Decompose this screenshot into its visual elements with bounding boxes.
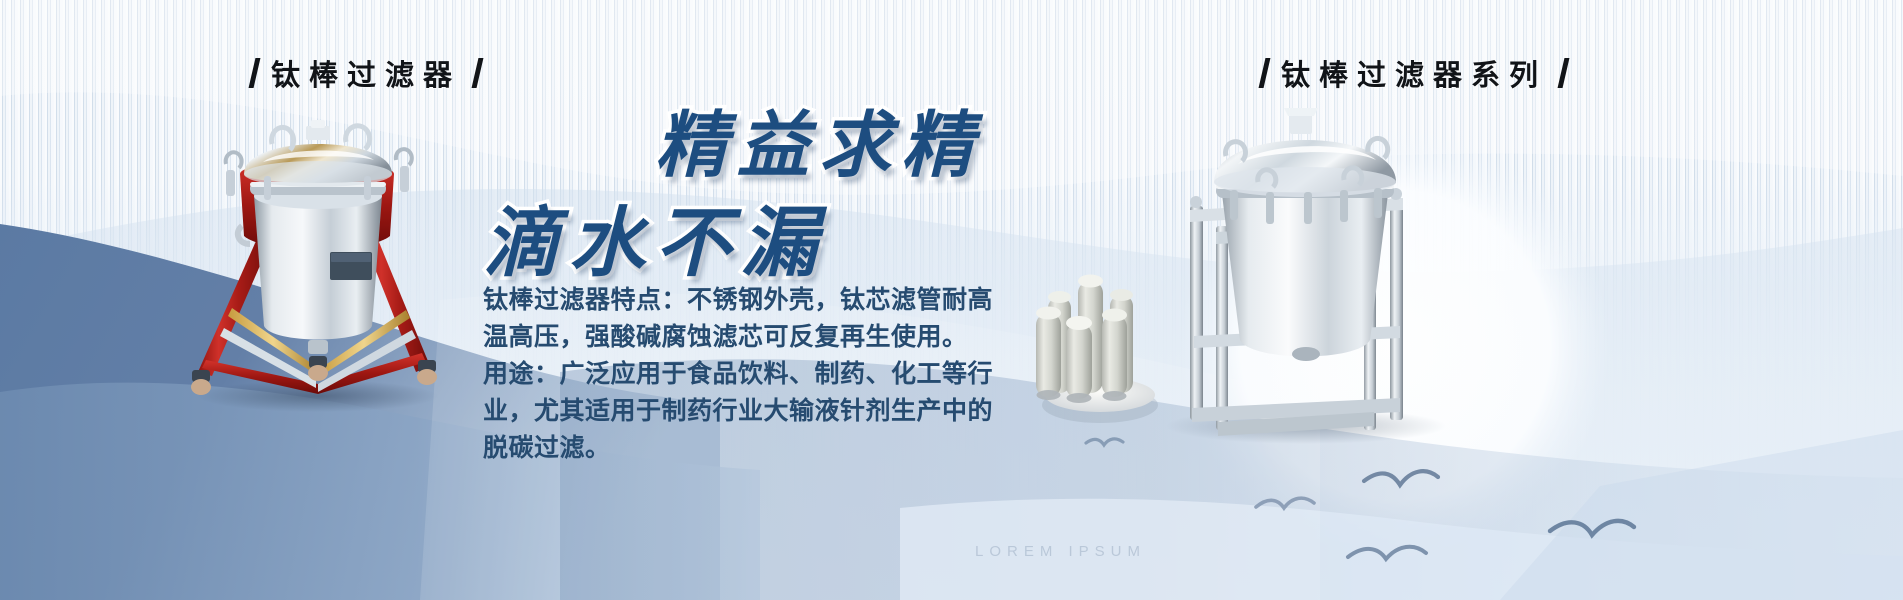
watermark-text: LOREM IPSUM — [975, 543, 1146, 560]
kicker-heading-left: 钛棒过滤器 — [252, 52, 480, 94]
kicker-right-label: 钛棒过滤器系列 — [1281, 52, 1547, 94]
product-image-right-filter-vessel — [1138, 86, 1468, 446]
description-paragraph: 钛棒过滤器特点：不锈钢外壳，钛芯滤管耐高 温高压，强酸碱腐蚀滤芯可反复再生使用。… — [483, 281, 1003, 466]
kicker-left-label: 钛棒过滤器 — [271, 52, 461, 94]
description-line-1: 钛棒过滤器特点：不锈钢外壳，钛芯滤管耐高 — [483, 281, 1003, 318]
description-line-2: 温高压，强酸碱腐蚀滤芯可反复再生使用。 — [483, 318, 1003, 355]
description-line-5: 脱碳过滤。 — [483, 429, 1003, 466]
seagull-decorations — [1080, 415, 1640, 595]
product-banner: 钛棒过滤器 钛棒过滤器系列 精益求精 滴水不漏 钛棒过滤器特点：不锈钢外壳，钛芯… — [0, 0, 1903, 600]
product-image-left-filter-cart — [168, 104, 458, 414]
description-line-4: 业，尤其适用于制药行业大输液针剂生产中的 — [483, 392, 1003, 429]
slogan-line-2: 滴水不漏 — [483, 181, 827, 291]
kicker-heading-right: 钛棒过滤器系列 — [1262, 52, 1566, 94]
slogan-line-1: 精益求精 — [655, 86, 983, 191]
description-line-3: 用途：广泛应用于食品饮料、制药、化工等行 — [483, 355, 1003, 392]
